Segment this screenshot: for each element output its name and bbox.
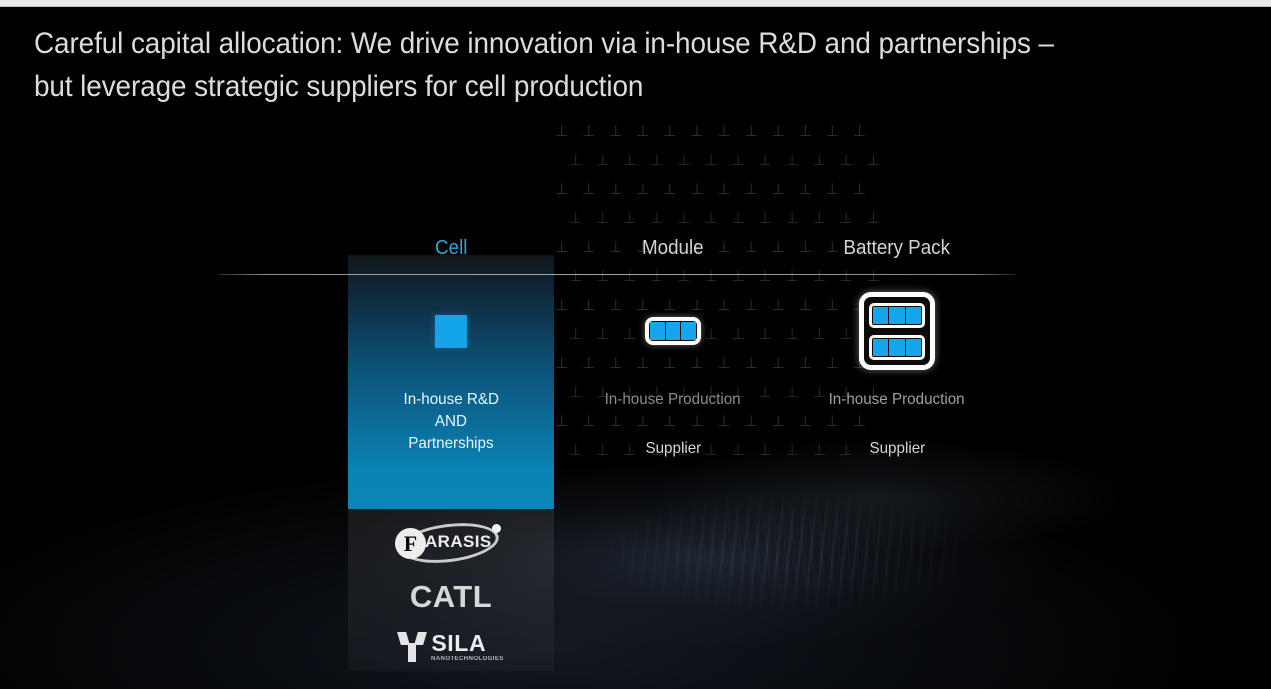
column-header-cell[interactable]: Cell xyxy=(348,235,554,261)
column-header-row: Cell Module Battery Pack xyxy=(218,231,1016,274)
supplier-logo-catl: CATL xyxy=(348,573,554,619)
battery-pack-inhouse-text: In-house Production xyxy=(829,389,965,411)
sila-y-stem xyxy=(408,643,416,662)
supplier-logo-list: F ARASIS CATL SILA NANOTECH xyxy=(348,511,554,671)
battery-pack-inhouse-label: In-house Production xyxy=(778,389,1016,411)
supplier-logo-sila: SILA NANOTECHNOLOGIES xyxy=(348,625,554,669)
module-cell-segment xyxy=(650,322,665,340)
battery-module-icon xyxy=(645,317,701,345)
module-icon-slot xyxy=(570,279,776,383)
cell-sourcing-label: In-house R&D AND Partnerships xyxy=(348,389,554,455)
sila-wordmark: SILA xyxy=(431,631,502,655)
farasis-f-monogram: F xyxy=(395,528,426,559)
sila-y-mark-icon xyxy=(399,632,425,662)
supplier-logo-farasis: F ARASIS xyxy=(348,515,554,571)
farasis-wordmark: ARASIS xyxy=(425,532,492,552)
column-header-battery-pack[interactable]: Battery Pack xyxy=(778,235,1016,261)
module-inhouse-label: In-house Production xyxy=(570,389,776,411)
column-header-battery-pack-label: Battery Pack xyxy=(844,235,951,261)
pack-module-lower xyxy=(869,335,925,360)
module-supplier-text: Supplier xyxy=(645,438,701,460)
cell-icon-slot xyxy=(348,279,554,383)
sila-text-group: SILA NANOTECHNOLOGIES xyxy=(431,631,502,664)
module-cell-segment xyxy=(889,307,904,324)
presentation-slide: ⊥⊥⊥⊥⊥⊥⊥⊥⊥⊥⊥⊥ ⊥⊥⊥⊥⊥⊥⊥⊥⊥⊥⊥⊥ ⊥⊥⊥⊥⊥⊥⊥⊥⊥⊥⊥⊥ ⊥… xyxy=(0,7,1271,689)
battery-cell-icon xyxy=(435,315,467,348)
sila-logo: SILA NANOTECHNOLOGIES xyxy=(399,631,502,664)
farasis-orbit-dot xyxy=(492,524,501,533)
module-cell-segment xyxy=(873,307,888,324)
module-cell-segment xyxy=(906,307,921,324)
module-cell-segment xyxy=(873,339,888,356)
sila-tagline: NANOTECHNOLOGIES xyxy=(431,655,504,664)
module-cell-segment xyxy=(666,322,681,340)
pattern-row: ⊥⊥⊥⊥⊥⊥⊥⊥⊥⊥⊥⊥ xyxy=(555,175,825,204)
column-header-cell-label: Cell xyxy=(435,235,467,261)
module-cell-segment xyxy=(681,322,696,340)
farasis-logo-icon: F ARASIS xyxy=(395,519,507,567)
cell-sourcing-line-1: In-house R&D xyxy=(403,389,498,411)
battery-pack-supplier-label: Supplier xyxy=(778,438,1016,460)
cell-sourcing-line-3: Partnerships xyxy=(408,433,493,455)
pattern-row: ⊥⊥⊥⊥⊥⊥⊥⊥⊥⊥⊥⊥ xyxy=(555,117,825,146)
battery-pack-icon xyxy=(859,292,935,370)
pattern-row: ⊥⊥⊥⊥⊥⊥⊥⊥⊥⊥⊥⊥ xyxy=(555,146,825,175)
column-header-module-label: Module xyxy=(642,235,704,261)
battery-pack-icon-slot xyxy=(778,279,1016,383)
cell-sourcing-line-2: AND xyxy=(435,411,467,433)
module-cell-segment xyxy=(889,339,904,356)
module-inhouse-text: In-house Production xyxy=(605,389,741,411)
window-top-strip xyxy=(0,0,1271,7)
sila-y-arm-right xyxy=(414,632,427,645)
page-title: Careful capital allocation: We drive inn… xyxy=(34,23,1131,108)
column-header-module[interactable]: Module xyxy=(570,235,776,261)
catl-wordmark: CATL xyxy=(410,581,492,612)
header-divider-rule xyxy=(218,274,1016,275)
pack-module-upper xyxy=(869,303,925,328)
module-supplier-label: Supplier xyxy=(570,438,776,460)
battery-pack-supplier-text: Supplier xyxy=(869,438,925,460)
value-chain-diagram: Cell Module Battery Pack xyxy=(218,231,1016,671)
pattern-row: ⊥⊥⊥⊥⊥⊥⊥⊥⊥⊥⊥⊥ xyxy=(555,204,825,233)
module-cell-segment xyxy=(906,339,921,356)
